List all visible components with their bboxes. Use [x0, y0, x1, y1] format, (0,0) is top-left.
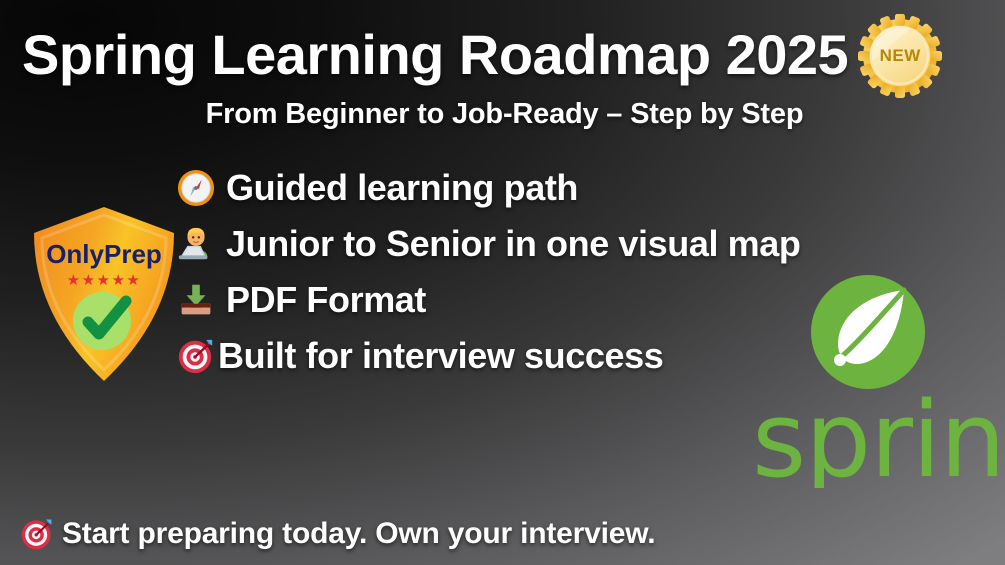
spring-wordmark-text: spring [752, 392, 1005, 488]
page-title: Spring Learning Roadmap 2025 [22, 24, 848, 86]
feature-label: Guided learning path [226, 167, 578, 209]
promo-poster: Spring Learning Roadmap 2025 [0, 0, 1005, 565]
feature-item: Junior to Senior in one visual map [176, 216, 966, 272]
feature-label: Built for interview success [218, 335, 663, 377]
onlyprep-shield-icon: OnlyPrep ★★★★★ [28, 203, 180, 385]
spring-wordmark: spring [752, 392, 1005, 488]
new-badge-label: NEW [858, 46, 942, 66]
title-row: Spring Learning Roadmap 2025 [22, 12, 942, 98]
feature-item: Guided learning path [176, 160, 966, 216]
target-icon [176, 336, 216, 376]
rating-stars: ★★★★★ [67, 271, 142, 289]
target-icon [20, 517, 54, 551]
compass-icon [176, 168, 216, 208]
spring-leaf-logo [808, 272, 928, 392]
cta-text: Start preparing today. Own your intervie… [62, 517, 655, 551]
onlyprep-shield-logo: OnlyPrep ★★★★★ [28, 203, 180, 385]
cta-row: Start preparing today. Own your intervie… [20, 517, 655, 551]
new-badge: NEW [858, 14, 942, 98]
onlyprep-wordmark: OnlyPrep [46, 239, 162, 269]
page-subtitle: From Beginner to Job-Ready – Step by Ste… [0, 98, 1005, 131]
feature-label: PDF Format [226, 279, 426, 321]
inbox-tray-icon [176, 280, 216, 320]
spring-leaf-icon [808, 272, 928, 392]
feature-label: Junior to Senior in one visual map [226, 223, 801, 265]
technologist-icon [176, 224, 216, 264]
svg-text:★★★★★: ★★★★★ [67, 271, 142, 289]
